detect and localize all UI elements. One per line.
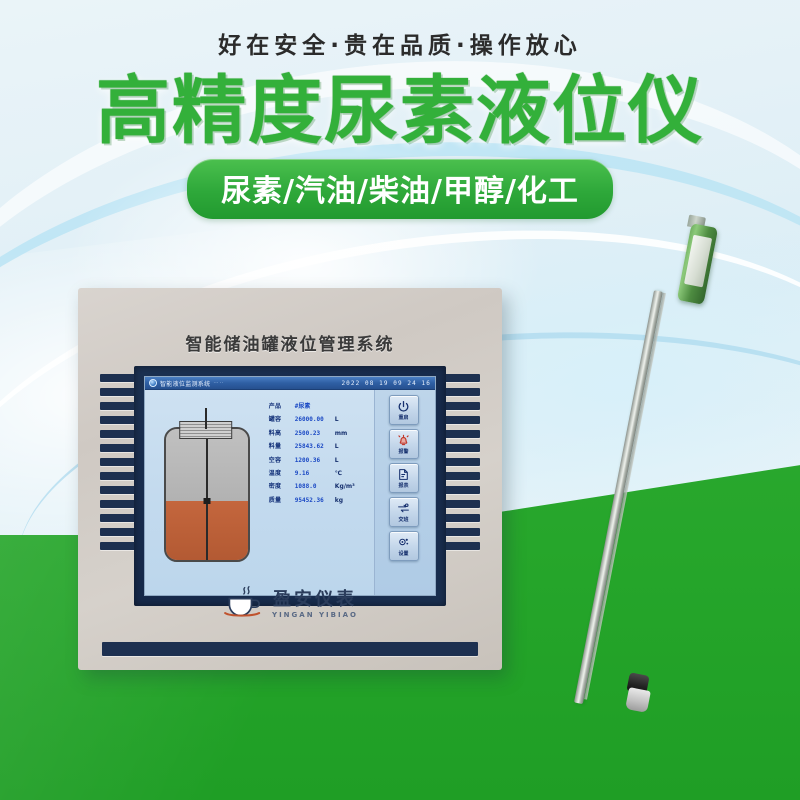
titlebar-left: 智能液位监测系统 ··· ··	[149, 379, 223, 388]
headline-block: 好在安全·贵在品质·操作放心 高精度尿素液位仪 尿素/汽油/柴油/甲醇/化工	[0, 0, 800, 219]
readout-row: 料高 2500.23 mm	[269, 431, 374, 437]
readout-label: 料量	[269, 444, 295, 450]
shift-handover-button-label: 交班	[399, 516, 409, 523]
screen-bezel: 智能液位监测系统 ··· ·· 2022 08 19 09 24 16	[134, 366, 446, 606]
readout-unit: ℃	[335, 471, 342, 477]
power-icon	[397, 400, 410, 413]
settings-button-label: 设置	[399, 550, 409, 557]
device-panel-title: 智能储油罐液位管理系统	[78, 330, 502, 355]
badge-wrap: 尿素/汽油/柴油/甲醇/化工	[0, 159, 800, 219]
readout-label: 质量	[269, 498, 295, 504]
app-logo-icon	[149, 379, 157, 387]
measurement-readout: 产品 #尿素 罐容 26000.00 L 料高 2500.23 mm	[267, 390, 374, 595]
probe-tip	[625, 687, 651, 713]
readout-value: 9.16	[295, 471, 335, 477]
readout-unit: L	[335, 417, 339, 423]
restart-button[interactable]: 重启	[389, 395, 419, 425]
page-title: 高精度尿素液位仪	[0, 74, 800, 149]
brand-name-cn: 盈安仪表	[273, 589, 357, 612]
readout-label: 空容	[269, 458, 295, 464]
tank-stub-icon	[205, 408, 207, 429]
brand-plate: 盈安仪表 YINGAN YIBIAO	[78, 585, 502, 624]
readout-unit: Kg/m³	[335, 484, 355, 490]
readout-label: 料高	[269, 431, 295, 437]
report-button[interactable]: 报表	[389, 463, 419, 493]
report-document-icon	[397, 468, 410, 481]
readout-value: 25843.62	[295, 444, 335, 450]
hmi-body: 产品 #尿素 罐容 26000.00 L 料高 2500.23 mm	[145, 390, 435, 595]
float-marker-icon	[204, 498, 211, 504]
alarm-button[interactable]: 报警	[389, 429, 419, 459]
readout-value: #尿素	[295, 404, 335, 410]
device-bottom-bar	[102, 642, 478, 656]
readout-label: 温度	[269, 471, 295, 477]
readout-row: 密度 1088.0 Kg/m³	[269, 484, 374, 490]
alarm-bell-icon	[397, 434, 410, 447]
readout-row: 罐容 26000.00 L	[269, 417, 374, 423]
probe-head-label	[684, 235, 712, 288]
readout-label: 产品	[269, 404, 295, 410]
hmi-button-column: 重启 报警	[374, 390, 435, 595]
hmi-app-title: 智能液位监测系统	[160, 379, 210, 388]
report-button-label: 报表	[399, 482, 409, 489]
tank-graphic-area	[145, 390, 267, 595]
readout-row: 产品 #尿素	[269, 404, 374, 410]
readout-row: 质量 95452.36 kg	[269, 498, 374, 504]
settings-button[interactable]: 设置	[389, 531, 419, 561]
hmi-device: 智能储油罐液位管理系统	[78, 288, 502, 670]
hmi-screen[interactable]: 智能液位监测系统 ··· ·· 2022 08 19 09 24 16	[144, 376, 436, 596]
readout-value: 2500.23	[295, 431, 335, 437]
storage-tank	[164, 427, 249, 562]
readout-value: 26000.00	[295, 417, 335, 423]
shift-handover-icon	[397, 502, 410, 515]
restart-button-label: 重启	[399, 414, 409, 421]
brand-text: 盈安仪表 YINGAN YIBIAO	[272, 589, 358, 620]
hmi-titlebar: 智能液位监测系统 ··· ·· 2022 08 19 09 24 16	[145, 377, 435, 390]
readout-value: 1200.36	[295, 458, 335, 464]
probe-rod-graphic	[206, 427, 208, 560]
readout-value: 95452.36	[295, 498, 335, 504]
category-badge: 尿素/汽油/柴油/甲醇/化工	[187, 159, 613, 219]
readout-label: 密度	[269, 484, 295, 490]
titlebar-dots: ··· ··	[213, 380, 223, 386]
readout-row: 料量 25843.62 L	[269, 444, 374, 450]
readout-unit: kg	[335, 498, 343, 504]
readout-unit: mm	[335, 431, 348, 437]
hmi-datetime: 2022 08 19 09 24 16	[341, 380, 431, 387]
probe-head	[677, 223, 718, 305]
shift-handover-button[interactable]: 交班	[389, 497, 419, 527]
readout-value: 1088.0	[295, 484, 335, 490]
brand-name-en: YINGAN YIBIAO	[272, 611, 358, 620]
readout-row: 空容 1200.36 L	[269, 458, 374, 464]
gear-settings-icon	[397, 536, 410, 549]
readout-unit: L	[335, 458, 339, 464]
coffee-cup-icon	[222, 585, 264, 624]
readout-label: 罐容	[269, 417, 295, 423]
advertisement-banner: 好在安全·贵在品质·操作放心 高精度尿素液位仪 尿素/汽油/柴油/甲醇/化工 智…	[0, 0, 800, 800]
readout-unit: L	[335, 444, 339, 450]
level-sensor-probe	[600, 225, 760, 735]
readout-row: 温度 9.16 ℃	[269, 471, 374, 477]
tagline: 好在安全·贵在品质·操作放心	[0, 26, 800, 60]
alarm-button-label: 报警	[399, 448, 409, 455]
